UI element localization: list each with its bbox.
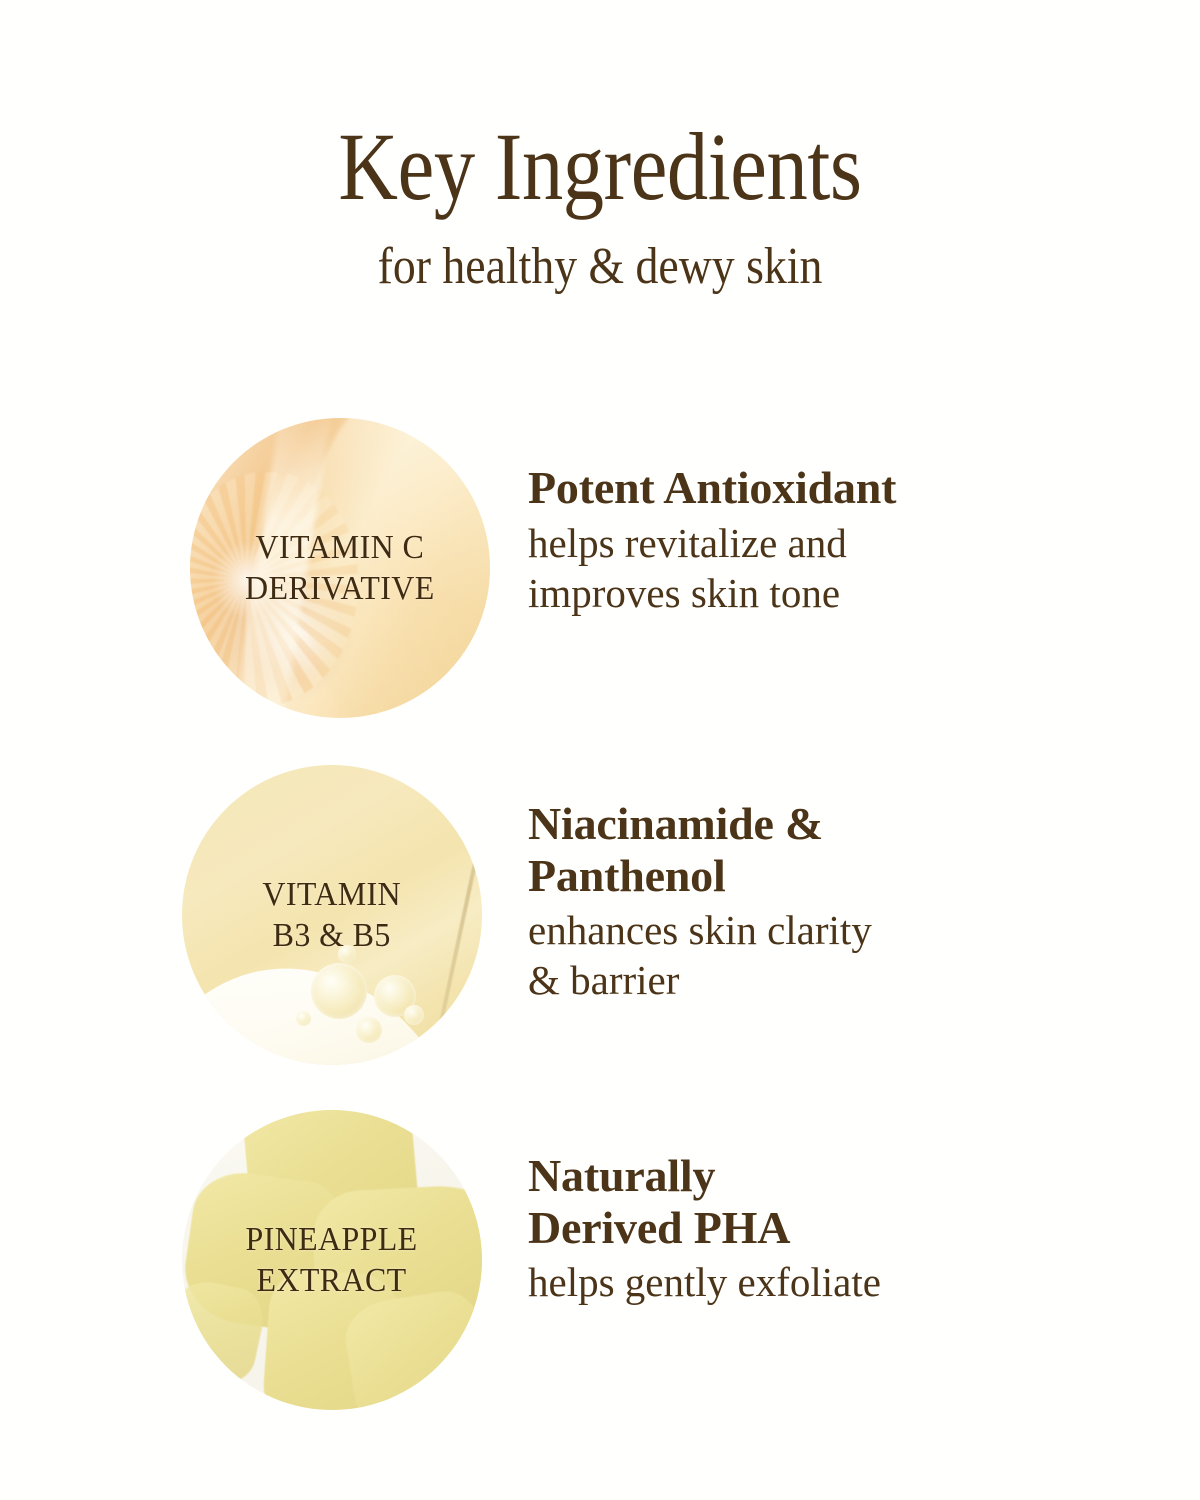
ingredient-body: helps revitalize and improves skin tone xyxy=(528,518,1088,618)
ingredient-image-vitamin-c: VITAMIN C DERIVATIVE xyxy=(190,418,490,718)
ingredient-list: VITAMIN C DERIVATIVE Potent Antioxidant … xyxy=(0,400,1200,1450)
ingredient-image-vitamin-b: VITAMIN B3 & B5 xyxy=(182,765,482,1065)
circle-label: VITAMIN B3 & B5 xyxy=(263,874,402,957)
oil-bubble xyxy=(311,963,367,1019)
page-title: Key Ingredients xyxy=(84,118,1116,216)
ingredient-heading: Niacinamide & Panthenol xyxy=(528,798,1088,901)
ingredient-image-pineapple: PINEAPPLE EXTRACT xyxy=(182,1110,482,1410)
ingredient-heading: Naturally Derived PHA xyxy=(528,1150,1088,1253)
ingredient-body: helps gently exfoliate xyxy=(528,1257,1088,1307)
ingredient-row: VITAMIN C DERIVATIVE Potent Antioxidant … xyxy=(0,400,1200,750)
ingredient-copy: Niacinamide & Panthenol enhances skin cl… xyxy=(528,798,1088,1005)
key-ingredients-infographic: Key Ingredients for healthy & dewy skin … xyxy=(0,0,1200,1500)
circle-label: VITAMIN C DERIVATIVE xyxy=(245,527,435,610)
header-block: Key Ingredients for healthy & dewy skin xyxy=(0,0,1200,295)
circle-photo-oil: VITAMIN B3 & B5 xyxy=(182,765,482,1065)
oil-bubble xyxy=(296,1011,311,1026)
ingredient-body: enhances skin clarity & barrier xyxy=(528,905,1088,1005)
oil-bubble xyxy=(404,1005,424,1025)
ingredient-heading: Potent Antioxidant xyxy=(528,462,1088,514)
ingredient-copy: Naturally Derived PHA helps gently exfol… xyxy=(528,1150,1088,1307)
ingredient-row: VITAMIN B3 & B5 Niacinamide & Panthenol … xyxy=(0,750,1200,1100)
circle-label: PINEAPPLE EXTRACT xyxy=(246,1219,418,1302)
ingredient-row: PINEAPPLE EXTRACT Naturally Derived PHA … xyxy=(0,1100,1200,1450)
page-subtitle: for healthy & dewy skin xyxy=(72,238,1128,295)
circle-photo-pineapple: PINEAPPLE EXTRACT xyxy=(182,1110,482,1410)
ingredient-copy: Potent Antioxidant helps revitalize and … xyxy=(528,462,1088,618)
circle-photo-citrus: VITAMIN C DERIVATIVE xyxy=(190,418,490,718)
oil-bubble xyxy=(356,1017,382,1043)
